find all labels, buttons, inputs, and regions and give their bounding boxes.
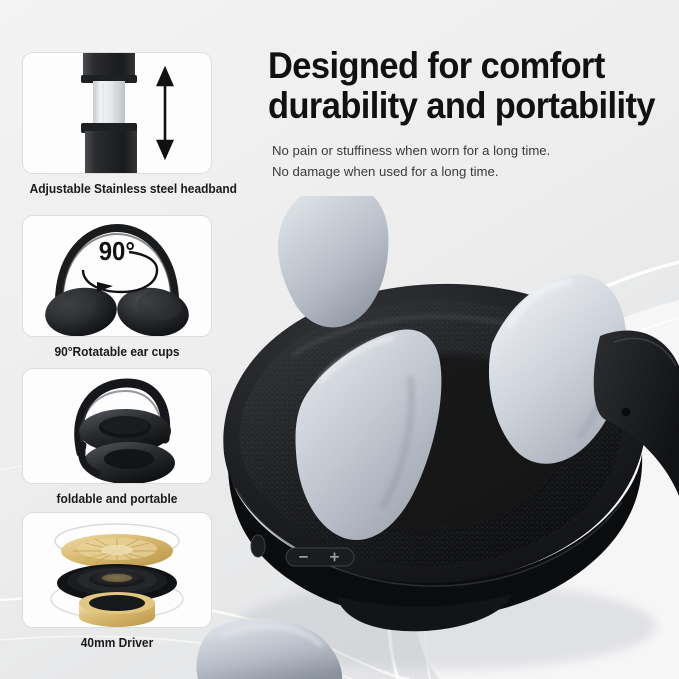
subtitle-block: No pain or stuffiness when worn for a lo…	[272, 140, 668, 183]
rotating-earcup-icon: 90°	[23, 216, 211, 336]
feature-card-foldable: foldable and portable	[22, 368, 212, 506]
product-feature-page: Designed for comfort durability and port…	[0, 0, 679, 679]
feature-card-rotatable: 90° 90°Rotatable ear cups	[22, 215, 212, 359]
speaker-driver-icon	[23, 513, 211, 627]
feature-card-headband: Adjustable Stainless steel headband	[22, 52, 212, 196]
folded-headphones-icon	[23, 369, 211, 483]
feature-card-driver: 40mm Driver	[22, 512, 212, 650]
power-button	[251, 535, 265, 557]
headline-line-2: durability and portability	[268, 86, 640, 126]
subtitle-line-2: No damage when used for a long time.	[272, 161, 668, 182]
feature-caption-foldable: foldable and portable	[30, 491, 205, 506]
feature-thumbnail-foldable	[22, 368, 212, 484]
subtitle-line-1: No pain or stuffiness when worn for a lo…	[272, 140, 668, 161]
feature-thumbnail-rotatable: 90°	[22, 215, 212, 337]
feature-caption-headband: Adjustable Stainless steel headband	[30, 181, 205, 196]
headband-extension-icon	[23, 53, 211, 173]
feature-thumbnail-headband	[22, 52, 212, 174]
feature-caption-driver: 40mm Driver	[30, 635, 205, 650]
hero-product-image	[196, 196, 679, 679]
feature-thumbnail-driver	[22, 512, 212, 628]
page-title: Designed for comfort durability and port…	[268, 46, 640, 126]
headline-line-1: Designed for comfort	[268, 45, 605, 86]
volume-rocker	[286, 548, 354, 566]
feature-caption-rotatable: 90°Rotatable ear cups	[30, 344, 205, 359]
headline-block: Designed for comfort durability and port…	[268, 46, 668, 183]
